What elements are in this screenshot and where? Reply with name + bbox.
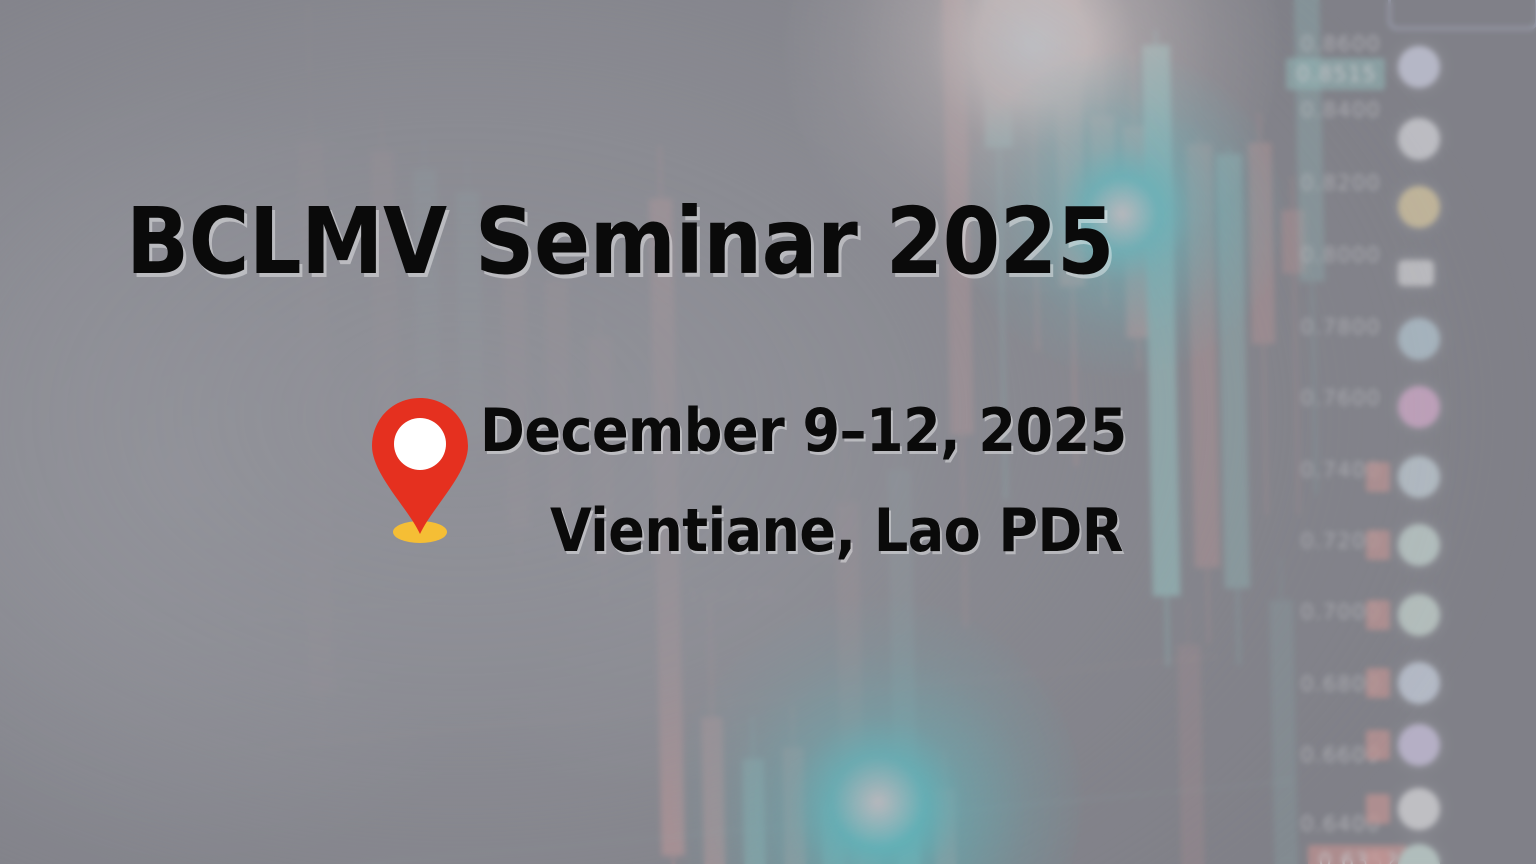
event-copy: BCLMV Seminar 2025 December 9–12, 2025 V… — [0, 0, 1536, 864]
event-location: Vientiane, Lao PDR — [550, 496, 1123, 566]
event-date: December 9–12, 2025 — [480, 396, 1127, 466]
map-pin-hole — [394, 418, 446, 470]
map-pin-icon — [368, 396, 472, 546]
page-title: BCLMV Seminar 2025 — [0, 188, 1240, 295]
slide-canvas: 382(0.923) 236(0.836) 0.86000.85150.8400… — [0, 0, 1536, 864]
